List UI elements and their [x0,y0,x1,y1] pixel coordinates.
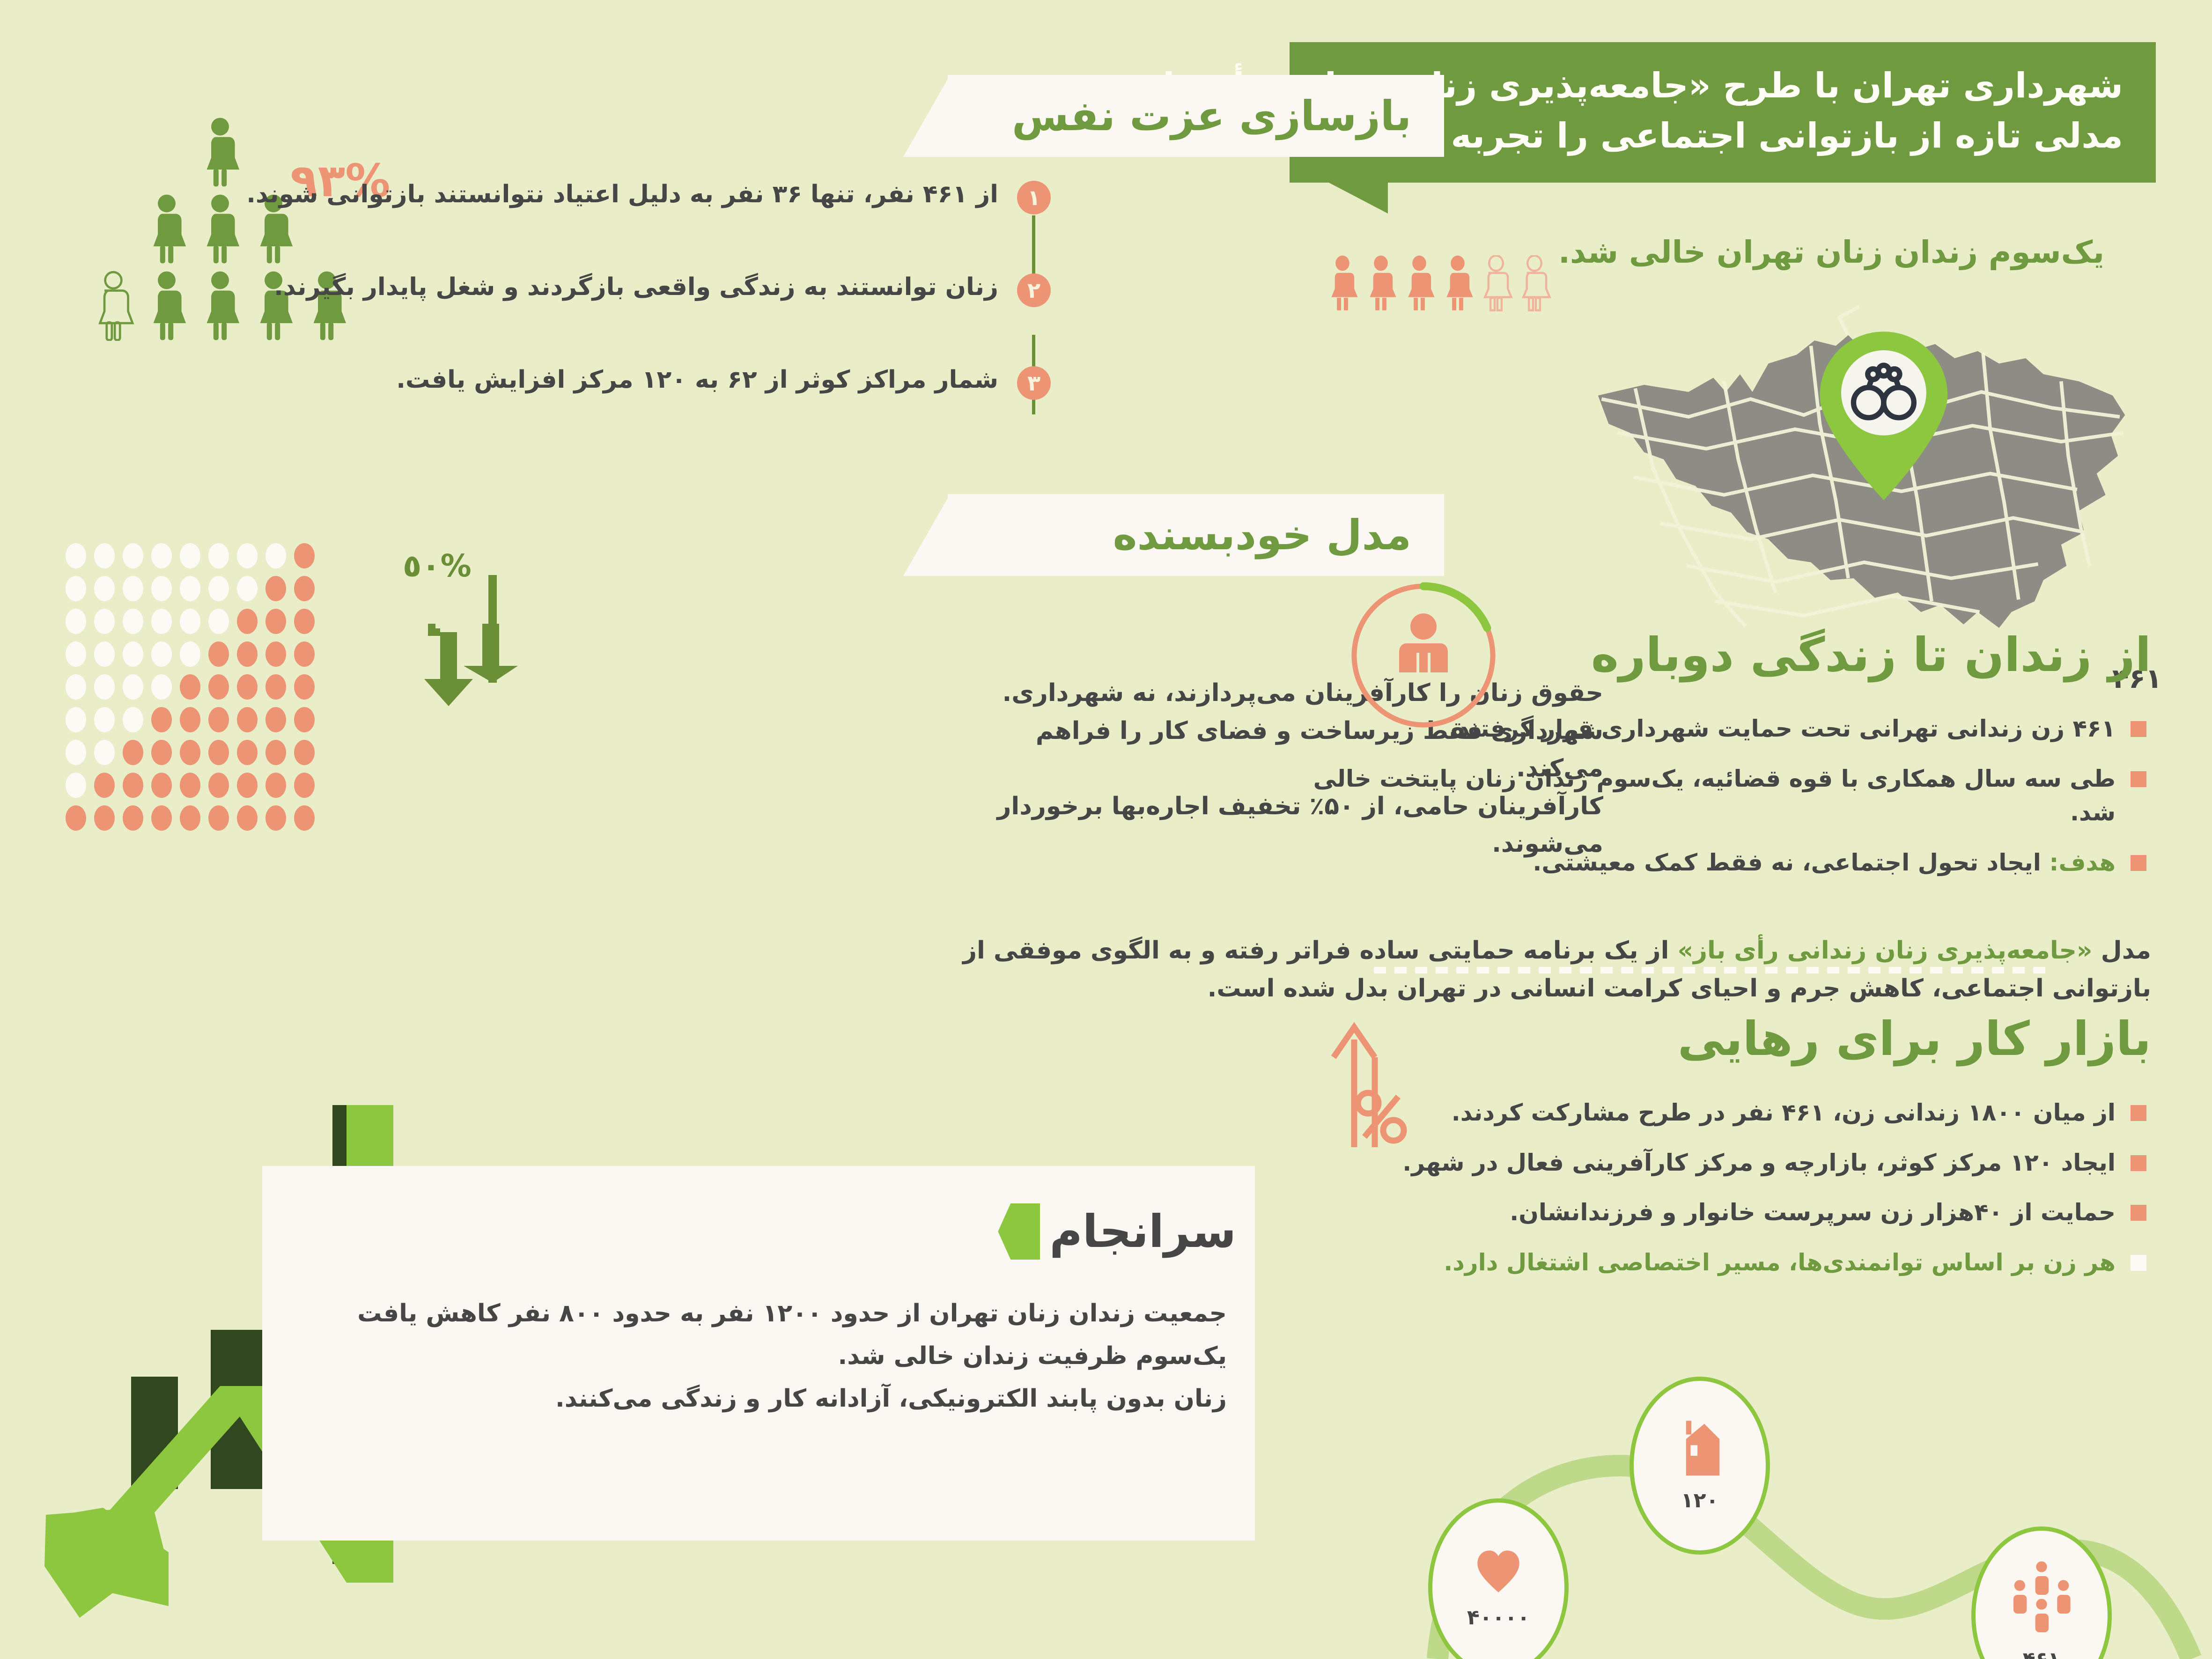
dot-empty [237,543,258,568]
jobs-bullet-1-text: از میان ۱۸۰۰ زندانی زن، ۴۶۱ نفر در طرح م… [1452,1096,2116,1130]
dot-empty [94,576,115,601]
dot-filled [294,543,315,568]
dot-empty [94,674,115,700]
dot-matrix-row [66,805,315,831]
dot-filled [294,641,315,667]
dot-filled [208,740,229,765]
tehran-district-map [1569,300,2163,637]
prison-bullet-3-label: هدف: [2049,849,2116,876]
dot-empty [123,576,143,601]
dot-filled [180,773,200,798]
dot-filled [180,674,200,700]
dot-empty [180,576,200,601]
woman-figure-filled [1364,255,1398,311]
conclusion-line-1: جمعیت زندان زنان تهران از حدود ۱۲۰۰ نفر … [290,1292,1227,1335]
dot-filled [265,707,286,732]
group-icon [2006,1560,2077,1639]
step-badge-3: ۳ [1017,366,1051,400]
dot-empty [66,641,86,667]
dot-filled [237,707,258,732]
dot-matrix-chart: ٥٠% [66,543,315,838]
dot-matrix-row [66,707,315,732]
dot-empty [94,740,115,765]
dot-filled [180,740,200,765]
bullet-square-icon [2131,1205,2146,1221]
model-paragraph-before: مدل [2093,936,2151,965]
dot-filled [123,805,143,831]
dot-filled [237,609,258,634]
heart-icon [1473,1546,1524,1597]
conclusion-card: سرانجام جمعیت زندان زنان تهران از حدود ۱… [262,1166,1255,1541]
dot-matrix-row [66,773,315,798]
dot-matrix-row [66,674,315,700]
dot-filled [208,805,229,831]
dot-filled [208,674,229,700]
dot-empty [265,543,286,568]
dot-filled [123,773,143,798]
dot-empty [66,543,86,568]
conclusion-line-2: یک‌سوم ظرفیت زندان خالی شد. [290,1335,1227,1378]
woman-figure-outlined [1517,255,1552,311]
woman-figure-filled [198,117,243,187]
woman-figure-filled [1402,255,1437,311]
dot-matrix-row [66,576,315,601]
model-paragraph-highlight: «جامعه‌پذیری زنان زندانی رأی باز» [1678,936,2093,965]
prison-bullet-list: ۴۶۱ زن زندانی تهرانی تحت حمایت شهرداری ق… [1304,712,2146,895]
bullet-square-icon [2131,771,2146,787]
jobs-bullet-2: ایجاد ۱۲۰ مرکز کوثر، بازارچه و مرکز کارآ… [1304,1146,2146,1180]
dot-empty [151,543,172,568]
dot-empty [123,609,143,634]
dot-empty [123,674,143,700]
dot-filled [237,805,258,831]
dot-filled [294,773,315,798]
dot-empty [208,609,229,634]
dot-empty [66,674,86,700]
dot-empty [66,609,86,634]
woman-figure-filled [1440,255,1475,311]
dot-filled [294,707,315,732]
dot-empty [180,609,200,634]
conclusion-title-row: سرانجام [998,1189,1236,1274]
section-title-prison: از زندان تا زندگی دوباره [1591,627,2151,682]
dot-empty [94,641,115,667]
dot-empty [151,576,172,601]
selfesteem-steps-list: ۱ از ۴۶۱ نفر، تنها ۳۶ نفر به دلیل اعتیاد… [161,178,1051,400]
person-icon [1399,613,1448,672]
step-text-3: شمار مراکز کوثر از ۶۲ به ۱۲۰ مرکز افزایش… [396,363,998,396]
dot-filled [294,740,315,765]
dot-filled [265,641,286,667]
dot-filled [208,707,229,732]
left-arrow-icon [998,1203,1040,1260]
dot-filled [237,674,258,700]
dot-empty [237,576,258,601]
dot-empty [180,543,200,568]
jobs-bullet-3: حمایت از ۴۰هزار زن سرپرست خانوار و فرزند… [1304,1195,2146,1230]
dot-empty [151,641,172,667]
jobs-bullet-3-text: حمایت از ۴۰هزار زن سرپرست خانوار و فرزند… [1510,1195,2116,1230]
dot-empty [94,707,115,732]
dot-filled [265,674,286,700]
dot-filled [180,805,200,831]
selfsufficient-line-1: حقوق زنان را کارآفرینان می‌پردازند، نه ش… [948,674,1603,712]
dot-empty [123,543,143,568]
dot-empty [180,641,200,667]
dot-filled [294,609,315,634]
step-item-2: ۲ زنان توانستند به زندگی واقعی بازگردند … [161,271,1051,307]
dot-empty [66,740,86,765]
dot-empty [208,576,229,601]
dot-empty [151,674,172,700]
jobs-bullet-1: از میان ۱۸۰۰ زندانی زن، ۴۶۱ نفر در طرح م… [1304,1096,2146,1130]
dot-matrix-row [66,740,315,765]
dot-filled [265,805,286,831]
bottom-metrics-group: ۴۰۰۰۰ ۱۲۰ ۴۶۱ [1419,1349,2212,1659]
bullet-square-icon [2131,1105,2146,1121]
woman-figure-outlined [91,271,136,341]
prison-bullet-3-text: هدف: ایجاد تحول اجتماعی، نه فقط کمک معیش… [1533,846,2116,880]
dot-empty [94,543,115,568]
dot-filled [94,805,115,831]
bullet-square-icon [2131,721,2146,737]
metric-circle-house-number: ۱۲۰ [1681,1489,1719,1512]
dot-filled [265,740,286,765]
dot-matrix-row [66,543,315,568]
prison-bullet-2: طی سه سال همکاری با قوه قضائیه، یک‌سوم ز… [1304,762,2146,830]
bullet-square-icon [2131,1255,2146,1271]
conclusion-line-3: زنان بدون پابند الکترونیکی، آزادانه کار … [290,1378,1227,1420]
header-tail [1327,182,1388,214]
step-badge-2: ۲ [1017,273,1051,307]
dot-empty [123,707,143,732]
jobs-bullet-4-text: هر زن بر اساس توانمندی‌ها، مسیر اختصاصی … [1444,1246,2116,1280]
participants-ring-badge [1349,581,1498,730]
section-title-selfesteem-label: بازسازی عزت نفس [1012,92,1411,140]
dot-matrix-row [66,609,315,634]
dot-empty [66,576,86,601]
section-title-selfesteem: بازسازی عزت نفس [948,75,1444,157]
female-ratio-pictogram [1325,255,1552,311]
dot-matrix-row [66,641,315,667]
dot-empty [66,707,86,732]
dot-filled [237,740,258,765]
section-divider [1374,967,2048,973]
dot-filled [294,674,315,700]
dot-filled [151,805,172,831]
dot-filled [180,707,200,732]
prison-bullet-3: هدف: ایجاد تحول اجتماعی، نه فقط کمک معیش… [1304,846,2146,880]
dot-filled [237,641,258,667]
dot-filled [66,805,86,831]
metric-circle-house: ۱۲۰ [1630,1377,1770,1555]
infographic-canvas: شهرداری تهران با طرح «جامعه‌پذیری زنان ز… [0,0,2212,1659]
prison-bullet-1-text: ۴۶۱ زن زندانی تهرانی تحت حمایت شهرداری ق… [1449,712,2116,746]
woman-figure-filled [1325,255,1360,311]
jobs-bullet-2-text: ایجاد ۱۲۰ مرکز کوثر، بازارچه و مرکز کارآ… [1402,1146,2116,1180]
bullet-square-icon [2131,855,2146,871]
dot-filled [208,641,229,667]
prison-bullet-3-body: ایجاد تحول اجتماعی، نه فقط کمک معیشتی. [1533,849,2049,876]
woman-figure-outlined [1479,255,1513,311]
dot-filled [151,773,172,798]
dot-filled [294,576,315,601]
section-title-jobs: بازار کار برای رهایی [1678,1011,2151,1066]
bullet-square-icon [2131,1155,2146,1171]
conclusion-body: جمعیت زندان زنان تهران از حدود ۱۲۰۰ نفر … [290,1292,1227,1420]
prison-bullet-2-text: طی سه سال همکاری با قوه قضائیه، یک‌سوم ز… [1304,762,2116,830]
step-text-1: از ۴۶۱ نفر، تنها ۳۶ نفر به دلیل اعتیاد ن… [246,178,998,211]
dot-empty [123,641,143,667]
dot-filled [265,773,286,798]
step-badge-1: ۱ [1017,181,1051,214]
section-title-selfsufficient: مدل خودبسنده [948,494,1444,576]
metric-circle-heart-number: ۴۰۰۰۰ [1467,1606,1530,1630]
jobs-bullet-4: هر زن بر اساس توانمندی‌ها، مسیر اختصاصی … [1304,1246,2146,1280]
dot-filled [237,773,258,798]
jobs-bullet-list: از میان ۱۸۰۰ زندانی زن، ۴۶۱ نفر در طرح م… [1304,1096,2146,1295]
metric-circle-group-number: ۴۶۱ [2023,1648,2061,1659]
down-arrow-icon [384,571,520,726]
dot-empty [66,773,86,798]
step-item-1: ۱ از ۴۶۱ نفر، تنها ۳۶ نفر به دلیل اعتیاد… [161,178,1051,214]
dot-empty [94,609,115,634]
conclusion-title: سرانجام [1049,1205,1236,1258]
step-item-3: ۳ شمار مراکز کوثر از ۶۲ به ۱۲۰ مرکز افزا… [161,363,1051,400]
house-icon [1674,1419,1725,1480]
dot-filled [265,609,286,634]
dot-empty [208,543,229,568]
step-text-2: زنان توانستند به زندگی واقعی بازگردند و … [274,271,998,303]
dot-filled [94,773,115,798]
dot-empty [151,609,172,634]
dot-filled [151,707,172,732]
dot-filled [123,740,143,765]
right-subtitle: یک‌سوم زندان زنان تهران خالی شد. [1558,234,2104,270]
dot-filled [265,576,286,601]
dot-filled [208,773,229,798]
section-title-selfsufficient-label: مدل خودبسنده [1113,511,1411,559]
prison-bullet-1: ۴۶۱ زن زندانی تهرانی تحت حمایت شهرداری ق… [1304,712,2146,746]
dot-filled [294,805,315,831]
dot-filled [151,740,172,765]
